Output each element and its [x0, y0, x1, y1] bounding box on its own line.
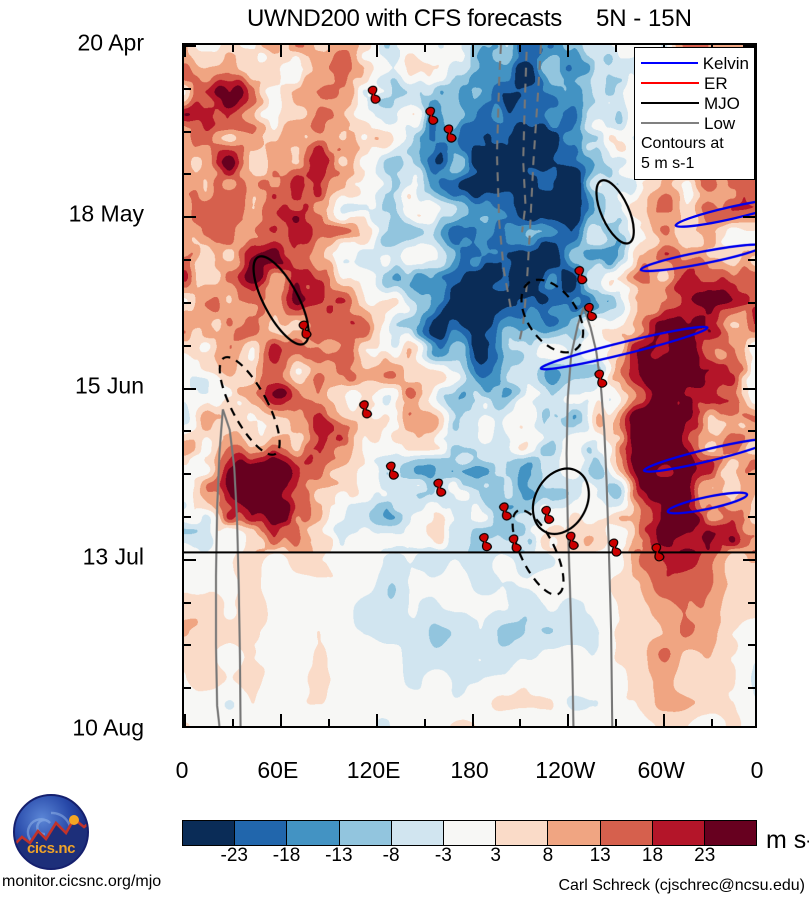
x-tick-mark-top	[232, 45, 234, 52]
x-tick-mark-top	[280, 45, 282, 57]
colorbar-tick-3: 3	[490, 845, 501, 867]
y-tick-mark	[184, 687, 191, 689]
kelvin-line-swatch	[641, 62, 698, 64]
y-tick-label-15-jun: 15 Jun	[75, 372, 144, 399]
page-title: UWND200 with CFS forecasts	[247, 5, 562, 33]
x-tick-mark-bottom	[472, 714, 474, 726]
y-tick-label-10-aug: 10 Aug	[72, 715, 144, 742]
colorbar-swatch-8	[600, 821, 652, 845]
y-tick-mark	[184, 302, 191, 304]
legend-label-mjo: MJO	[704, 95, 740, 112]
x-tick-mark-top	[567, 45, 569, 57]
y-tick-mark-right	[748, 302, 755, 304]
cicsnc-logo: cics.nc	[12, 793, 90, 871]
x-tick-mark-bottom	[567, 714, 569, 726]
x-tick-mark-bottom	[184, 714, 186, 726]
y-tick-mark-right	[743, 559, 755, 561]
x-tick-label-0: 0	[176, 757, 189, 784]
colorbar-swatch-0	[183, 821, 234, 845]
y-tick-mark	[184, 173, 191, 175]
low-line-swatch	[641, 122, 699, 124]
legend-note-line2: 5 m s-1	[641, 155, 749, 173]
colorbar-swatch-1	[234, 821, 286, 845]
colorbar-unit-label: m s-1	[766, 826, 809, 855]
y-tick-mark-right	[748, 259, 755, 261]
y-tick-mark	[184, 216, 196, 218]
colorbar-swatch-6	[495, 821, 547, 845]
y-tick-mark	[184, 259, 191, 261]
x-tick-mark-top	[424, 45, 426, 52]
latitude-band-label: 5N - 15N	[596, 5, 692, 33]
x-tick-mark-top	[376, 45, 378, 57]
y-tick-mark	[184, 473, 191, 475]
colorbar-swatch-4	[391, 821, 443, 845]
colorbar-tick--23: -23	[221, 845, 248, 867]
x-tick-mark-top	[184, 45, 186, 57]
legend-label-kelvin: Kelvin	[703, 55, 749, 72]
legend-item-er: ER	[641, 73, 749, 93]
x-tick-label-3: 180	[450, 757, 488, 784]
x-tick-mark-bottom	[519, 719, 521, 726]
y-tick-label-18-may: 18 May	[69, 201, 144, 228]
x-tick-mark-bottom	[328, 719, 330, 726]
colorbar-swatch-7	[547, 821, 599, 845]
x-tick-mark-bottom	[376, 714, 378, 726]
y-tick-mark-right	[748, 345, 755, 347]
colorbar-swatch-3	[339, 821, 391, 845]
legend-label-low: Low	[704, 115, 735, 132]
colorbar-tick-8: 8	[543, 845, 554, 867]
colorbar-swatch-9	[652, 821, 704, 845]
x-axis: 060E120E180120W60W0	[0, 757, 809, 787]
x-tick-mark-bottom	[424, 719, 426, 726]
colorbar-tick-labels: -23-18-13-8-338131823	[182, 845, 757, 869]
colorbar-tick-18: 18	[642, 845, 663, 867]
colorbar-tick--18: -18	[273, 845, 300, 867]
x-tick-label-1: 60E	[257, 757, 298, 784]
legend-item-kelvin: Kelvin	[641, 53, 749, 73]
y-tick-mark-right	[743, 216, 755, 218]
x-tick-label-4: 120W	[535, 757, 595, 784]
colorbar-swatches	[182, 820, 757, 846]
colorbar-tick--3: -3	[435, 845, 452, 867]
x-tick-mark-bottom	[615, 719, 617, 726]
y-tick-mark	[184, 131, 191, 133]
er-line-swatch	[641, 82, 699, 84]
y-tick-mark-right	[748, 644, 755, 646]
y-tick-mark	[184, 388, 196, 390]
y-tick-mark	[184, 516, 191, 518]
legend-note-line1: Contours at	[641, 135, 749, 153]
colorbar-swatch-2	[286, 821, 338, 845]
colorbar-tick-13: 13	[590, 845, 611, 867]
y-tick-mark	[184, 345, 191, 347]
x-tick-mark-top	[519, 45, 521, 52]
y-tick-label-20-apr: 20 Apr	[78, 30, 145, 57]
x-tick-mark-top	[328, 45, 330, 52]
y-tick-mark	[184, 430, 191, 432]
x-tick-mark-bottom	[711, 719, 713, 726]
x-tick-mark-bottom	[232, 719, 234, 726]
colorbar-swatch-5	[443, 821, 495, 845]
legend: Kelvin ER MJO Low Contours at 5 m s-1	[634, 47, 755, 180]
logo-graphic	[12, 793, 90, 871]
x-tick-label-5: 60W	[638, 757, 685, 784]
logo-wordmark: cics.nc	[12, 840, 90, 857]
y-tick-mark	[184, 644, 191, 646]
x-tick-label-6: 0	[751, 757, 764, 784]
y-tick-mark-right	[748, 602, 755, 604]
y-tick-label-13-jul: 13 Jul	[83, 543, 144, 570]
y-tick-mark-right	[748, 430, 755, 432]
x-tick-mark-top	[472, 45, 474, 57]
colorbar-tick--13: -13	[325, 845, 352, 867]
y-tick-mark	[184, 88, 191, 90]
legend-label-er: ER	[704, 75, 728, 92]
x-tick-mark-bottom	[663, 714, 665, 726]
colorbar	[182, 820, 757, 846]
chart-title-row: UWND200 with CFS forecasts 5N - 15N	[182, 2, 757, 36]
y-tick-mark-right	[748, 516, 755, 518]
y-tick-mark	[184, 559, 196, 561]
mjo-line-swatch	[641, 102, 699, 104]
y-tick-mark-right	[743, 388, 755, 390]
colorbar-tick-23: 23	[694, 845, 715, 867]
legend-item-low: Low	[641, 113, 749, 133]
credit-text: Carl Schreck (cjschrec@ncsu.edu)	[558, 877, 805, 895]
x-tick-label-2: 120E	[347, 757, 401, 784]
colorbar-swatch-10	[704, 821, 756, 845]
legend-item-mjo: MJO	[641, 93, 749, 113]
y-tick-mark	[184, 602, 191, 604]
colorbar-tick--8: -8	[383, 845, 400, 867]
y-tick-mark-right	[748, 473, 755, 475]
x-tick-mark-bottom	[280, 714, 282, 726]
y-tick-mark-right	[748, 687, 755, 689]
site-url-text: monitor.cicsnc.org/mjo	[2, 873, 161, 891]
x-tick-mark-top	[615, 45, 617, 52]
